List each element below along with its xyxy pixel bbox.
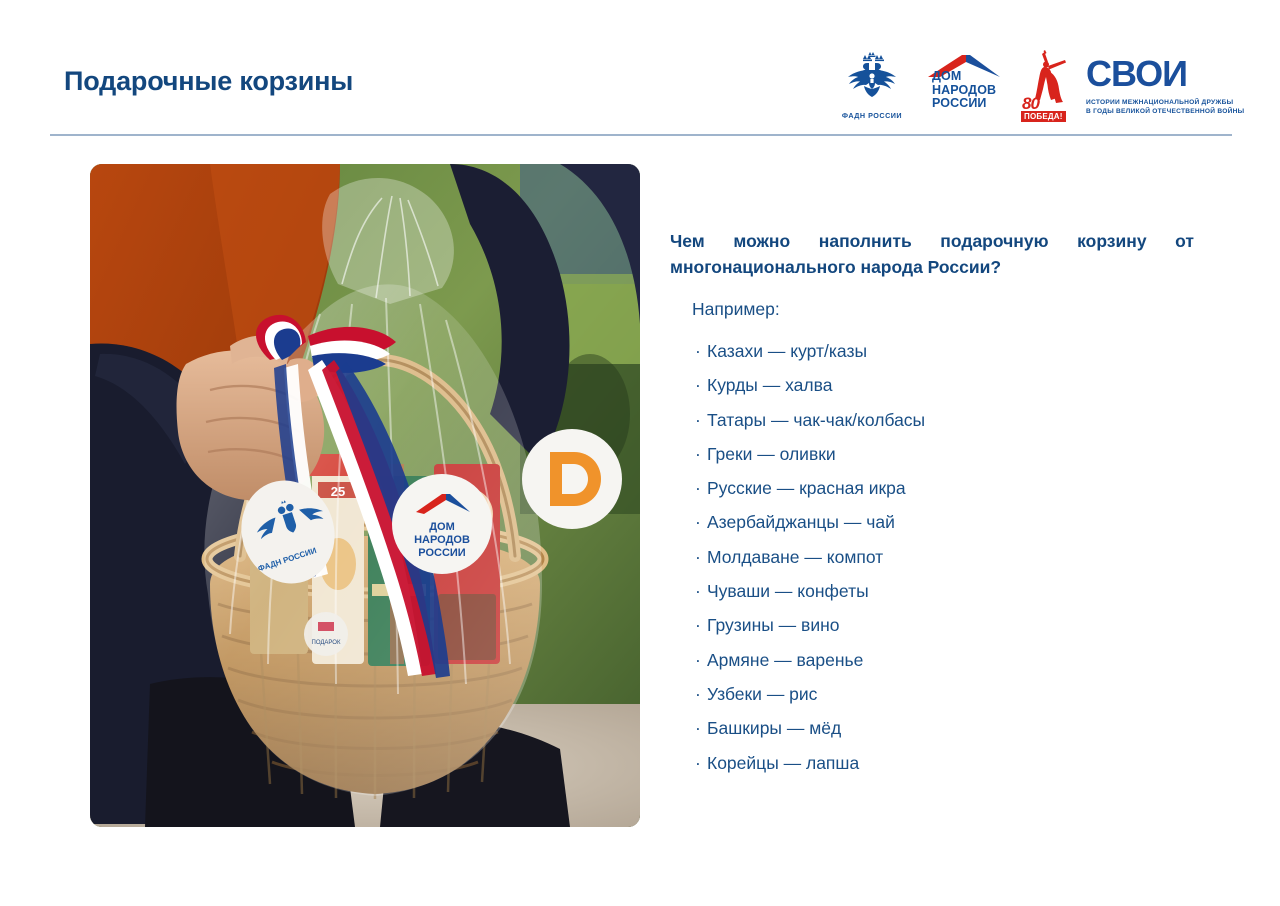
- svg-text:НАРОДОВ: НАРОДОВ: [414, 534, 470, 546]
- list-item-label: Армяне — варенье: [707, 650, 863, 670]
- list-item: ·Казахи — курт/казы: [695, 334, 1194, 368]
- bullet-glyph: ·: [695, 437, 707, 471]
- panel-heading: Чем можно наполнить подарочную корзину о…: [670, 228, 1194, 280]
- photo-illustration: 25: [90, 164, 640, 827]
- logo-dnr-wordmark: ДОМ НАРОДОВ РОССИИ: [932, 70, 996, 111]
- list-item-label: Греки — оливки: [707, 444, 836, 464]
- badge-dnr: ДОМ НАРОДОВ РОССИИ: [392, 474, 492, 574]
- bullet-glyph: ·: [695, 608, 707, 642]
- list-item: ·Азербайджанцы — чай: [695, 505, 1194, 539]
- bullet-glyph: ·: [695, 368, 707, 402]
- list-item-label: Курды — халва: [707, 375, 832, 395]
- logo-svoi-subtitle-line-1: ИСТОРИИ МЕЖНАЦИОНАЛЬНОЙ ДРУЖБЫ: [1086, 99, 1233, 106]
- logo-dnr-line-3: РОССИИ: [932, 96, 987, 110]
- logo-svoi-wordmark: СВОИ: [1086, 56, 1187, 92]
- list-item-label: Башкиры — мёд: [707, 718, 841, 738]
- bullet-glyph: ·: [695, 540, 707, 574]
- list-item-label: Узбеки — рис: [707, 684, 817, 704]
- logo-pobeda-caption: ПОБЕДА!: [1021, 111, 1066, 123]
- logo-fadn-rossii: ФАДН РОССИИ: [826, 50, 918, 124]
- list-item-label: Азербайджанцы — чай: [707, 512, 895, 532]
- logo-dnr-line-1: ДОМ: [932, 69, 961, 83]
- list-item: ·Чуваши — конфеты: [695, 574, 1194, 608]
- list-item-label: Русские — красная икра: [707, 478, 906, 498]
- badge-orange-d: [522, 429, 622, 529]
- logo-svoi-subtitle-line-2: В ГОДЫ ВЕЛИКОЙ ОТЕЧЕСТВЕННОЙ ВОЙНЫ: [1086, 108, 1244, 115]
- basket-fillings-list: ·Казахи — курт/казы·Курды — халва·Татары…: [670, 334, 1194, 780]
- logo-dom-narodov-rossii: ДОМ НАРОДОВ РОССИИ: [918, 50, 1016, 124]
- list-item: ·Греки — оливки: [695, 437, 1194, 471]
- list-item: ·Узбеки — рис: [695, 677, 1194, 711]
- bullet-glyph: ·: [695, 471, 707, 505]
- logo-pobeda-80: 80 ПОБЕДА!: [1016, 50, 1078, 124]
- list-item-label: Казахи — курт/казы: [707, 341, 867, 361]
- content-panel: Чем можно наполнить подарочную корзину о…: [670, 228, 1194, 780]
- bullet-glyph: ·: [695, 677, 707, 711]
- panel-intro: Например:: [692, 298, 1194, 320]
- gift-basket-photo: 25: [90, 164, 640, 827]
- bullet-glyph: ·: [695, 505, 707, 539]
- svg-text:РОССИИ: РОССИИ: [418, 547, 466, 559]
- list-item: ·Русские — красная икра: [695, 471, 1194, 505]
- bullet-glyph: ·: [695, 334, 707, 368]
- list-item: ·Молдаване — компот: [695, 540, 1194, 574]
- page-title: Подарочные корзины: [64, 66, 353, 97]
- logo-strip: ФАДН РОССИИ ДОМ НАРОДОВ РОССИИ: [826, 50, 1246, 124]
- list-item: ·Корейцы — лапша: [695, 746, 1194, 780]
- bullet-glyph: ·: [695, 403, 707, 437]
- svg-text:ДОМ: ДОМ: [429, 521, 455, 533]
- list-item-label: Чуваши — конфеты: [707, 581, 869, 601]
- list-item: ·Армяне — варенье: [695, 643, 1194, 677]
- list-item-label: Корейцы — лапша: [707, 753, 859, 773]
- list-item: ·Грузины — вино: [695, 608, 1194, 642]
- double-headed-eagle-icon: [844, 52, 900, 107]
- logo-svoi: СВОИ ИСТОРИИ МЕЖНАЦИОНАЛЬНОЙ ДРУЖБЫ В ГО…: [1078, 50, 1240, 124]
- slide-header: Подарочные корзины: [0, 0, 1280, 140]
- bullet-glyph: ·: [695, 643, 707, 677]
- list-item: ·Башкиры — мёд: [695, 711, 1194, 745]
- list-item-label: Грузины — вино: [707, 615, 840, 635]
- logo-pobeda-number: 80: [1022, 96, 1039, 111]
- logo-svoi-subtitle: ИСТОРИИ МЕЖНАЦИОНАЛЬНОЙ ДРУЖБЫ В ГОДЫ ВЕ…: [1086, 98, 1238, 116]
- list-item-label: Татары — чак-чак/колбасы: [707, 410, 925, 430]
- bullet-glyph: ·: [695, 746, 707, 780]
- list-item: ·Курды — халва: [695, 368, 1194, 402]
- logo-fadn-caption: ФАДН РОССИИ: [826, 111, 918, 120]
- list-item-label: Молдаване — компот: [707, 547, 883, 567]
- bullet-glyph: ·: [695, 574, 707, 608]
- bullet-glyph: ·: [695, 711, 707, 745]
- logo-dnr-line-2: НАРОДОВ: [932, 83, 996, 97]
- list-item: ·Татары — чак-чак/колбасы: [695, 403, 1194, 437]
- header-divider: [50, 134, 1232, 136]
- svg-text:ПОДАРОК: ПОДАРОК: [312, 640, 341, 646]
